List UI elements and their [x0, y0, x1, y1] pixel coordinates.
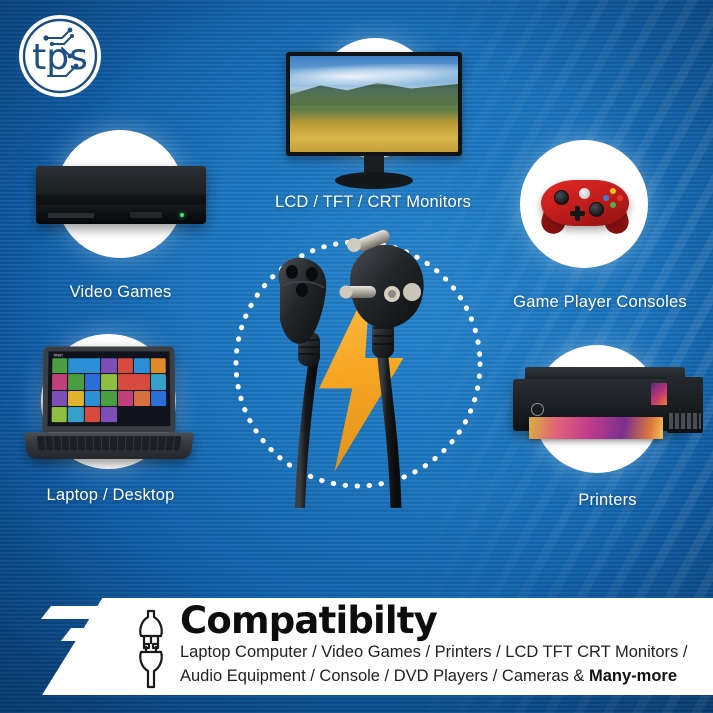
product-label-monitor: LCD / TFT / CRT Monitors — [243, 193, 503, 212]
controller-stick-left — [554, 190, 569, 205]
button-a — [610, 202, 616, 208]
laptop-icon: Start — [42, 346, 175, 432]
product-game-console: Game Player Consoles — [505, 140, 705, 325]
product-video-games: Video Games — [18, 130, 223, 315]
laptop-keyboard — [37, 436, 181, 450]
monitor-screen-landscape — [290, 56, 458, 152]
banner-line-2: Audio Equipment / Console / DVD Players … — [180, 665, 700, 689]
printer-ink-tank — [667, 377, 703, 433]
banner-line-2-emphasis: Many-more — [589, 667, 677, 685]
product-printer: Printers — [505, 345, 710, 520]
product-label-printer: Printers — [505, 491, 710, 510]
banner-line-1: Laptop Computer / Video Games / Printers… — [180, 641, 700, 665]
banner-title: Compatibilty — [180, 602, 700, 641]
controller-abxy-buttons — [603, 188, 623, 208]
dvd-player-icon — [36, 166, 206, 224]
laptop-screen-windows-tiles: Start — [48, 351, 171, 426]
product-label-laptop: Laptop / Desktop — [8, 486, 213, 505]
banner-line-2-prefix: Audio Equipment / Console / DVD Players … — [180, 667, 589, 685]
button-b — [617, 195, 623, 201]
power-led-indicator — [180, 213, 184, 217]
computer-monitor-icon — [286, 52, 462, 156]
logo-text: tps — [32, 37, 88, 78]
product-label-video-games: Video Games — [18, 283, 223, 302]
start-screen-label: Start — [53, 352, 62, 357]
button-x — [603, 195, 609, 201]
printer-power-button — [531, 403, 544, 416]
laptop-keyboard-base — [24, 432, 194, 459]
infographic-canvas: tps LCD / TFT / CRT Monitors Video Games — [0, 0, 713, 713]
male-plug-shape — [140, 611, 161, 636]
dvd-display-panel — [48, 213, 94, 218]
plug-and-socket-icon — [131, 608, 171, 690]
controller-guide-button — [579, 188, 590, 199]
printed-photo-output — [529, 417, 663, 439]
product-monitor: LCD / TFT / CRT Monitors — [243, 30, 503, 225]
plug-pin-live — [340, 286, 377, 299]
plug-pin-neutral — [384, 286, 400, 302]
printer-icon — [513, 367, 703, 451]
ink-level-bars — [669, 413, 701, 429]
monitor-base — [335, 172, 413, 189]
controller-dpad — [570, 206, 585, 221]
banner-text-block: Compatibilty Laptop Computer / Video Gam… — [180, 602, 700, 689]
product-laptop: Start — [8, 332, 213, 517]
dvd-logo-panel — [130, 212, 162, 218]
tps-logo: tps — [18, 14, 102, 98]
power-cable-icon — [222, 228, 494, 508]
cord-right — [382, 346, 396, 508]
hero-power-cable — [222, 228, 494, 508]
cord-left — [300, 358, 314, 508]
button-y — [610, 188, 616, 194]
game-controller-icon — [541, 168, 629, 234]
plug-socket-hole — [403, 283, 421, 301]
tps-circuit-logo: tps — [18, 14, 102, 98]
c5-clover-connector-head — [279, 258, 327, 344]
controller-stick-right — [589, 202, 604, 217]
product-label-console: Game Player Consoles — [500, 293, 700, 312]
female-socket-shape — [140, 652, 161, 687]
